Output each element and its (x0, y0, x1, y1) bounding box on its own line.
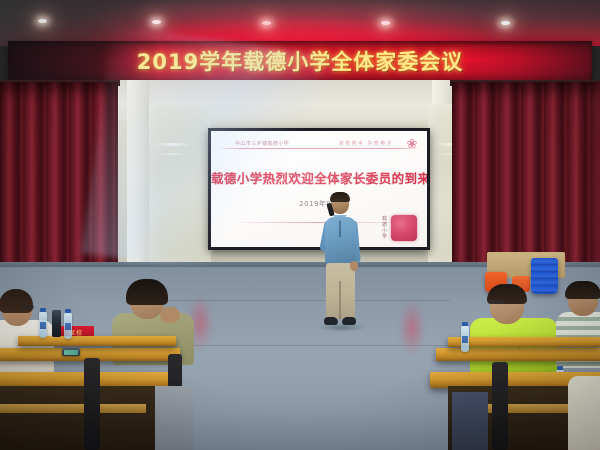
school-seal-icon (391, 215, 417, 241)
wall-pillar-left (127, 80, 149, 266)
speaker-shoe-right (342, 317, 356, 325)
water-bottle-cap-right-1 (462, 322, 468, 326)
attendee-far-right-hair (565, 281, 600, 299)
attendee-left-hair (126, 279, 168, 305)
attendee-right-green-glasses (488, 300, 504, 304)
water-bottle-right-1[interactable] (461, 326, 469, 352)
wall-panel-sheen-2 (158, 153, 188, 155)
water-bottle-left-2[interactable] (64, 313, 72, 339)
chair-back-left[interactable] (84, 358, 100, 450)
attendee-front-left-glasses (21, 305, 34, 309)
speaker-hair (330, 192, 350, 202)
wall-panel-left (149, 104, 211, 266)
water-bottle-cap-right-2 (557, 366, 563, 370)
speaker-leg-split (339, 281, 341, 319)
speaker-torso (325, 217, 356, 265)
chair-back-right[interactable] (492, 362, 508, 450)
slide-seal-label: 载德小学 (380, 216, 389, 240)
ceiling-light-1 (38, 19, 47, 23)
speaker-shoe-left (324, 317, 338, 325)
event-banner-text: 2019学年载德小学全体家委会议 (137, 46, 463, 76)
event-banner: 2019学年载德小学全体家委会议 (8, 41, 592, 81)
desk-front-left-shelf (0, 404, 146, 413)
attendee-right-green: 三乡酷跑 Sanxiang Cool Running (466, 288, 562, 374)
wall-panel-sheen (154, 143, 192, 146)
water-bottle-cap-left-1 (40, 308, 46, 312)
attendee-left-legs (155, 386, 193, 450)
speaker-hand (350, 261, 358, 271)
flower-motif-icon: ❀ (403, 136, 421, 152)
water-bottle-cap-left-2 (65, 309, 71, 313)
slide-title: 载德小学热烈欢迎全体家长委员的到来 (211, 168, 427, 187)
attendee-front-left-hair (0, 289, 33, 313)
slide-header-left: 中山市三乡镇载德小学 (235, 140, 289, 147)
desk-mid-right (448, 337, 600, 347)
attendee-corner-right (568, 376, 600, 450)
ceiling-light-2 (152, 20, 161, 24)
speaker-person (316, 193, 364, 338)
thermos-flask-left[interactable] (52, 310, 61, 337)
slide-header-right: 家校携手 共育英才 (339, 140, 393, 147)
ceiling-shadow (0, 0, 170, 46)
ceiling-light-3 (262, 21, 271, 25)
water-bottle-left-1[interactable] (39, 312, 47, 338)
curtain-left (0, 82, 118, 278)
attendee-left-arm (160, 307, 180, 323)
auditorium-photo: 2019学年载德小学全体家委会议 中山市三乡镇载德小学 家校携手 共育英才 ❀ … (0, 0, 600, 450)
ceiling-light-5 (501, 21, 510, 25)
attendee-right-green-legs (452, 392, 488, 450)
ceiling-light-4 (381, 21, 390, 25)
smartphone-left[interactable] (62, 348, 80, 356)
slide-divider-top (217, 148, 421, 149)
speaker-shirt-placket (339, 221, 341, 237)
